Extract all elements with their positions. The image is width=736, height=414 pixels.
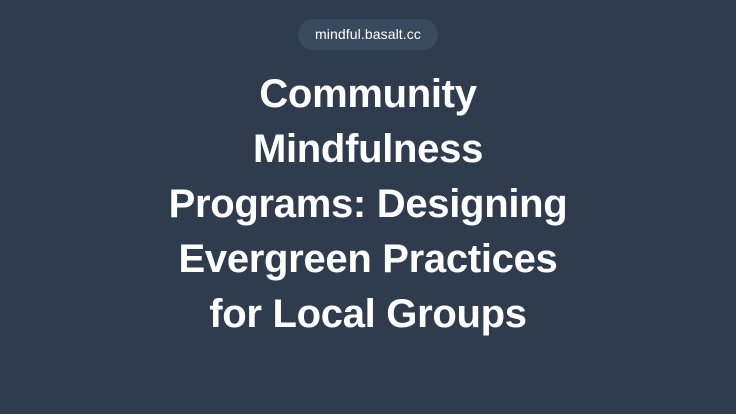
- page-title-line: Community: [133, 67, 603, 122]
- page-title-line: Mindfulness: [133, 122, 603, 177]
- site-domain-badge-label: mindful.basalt.cc: [315, 19, 421, 50]
- page-title-line: for Local Groups: [133, 287, 603, 342]
- page-title: Community Mindfulness Programs: Designin…: [133, 67, 603, 342]
- page-title-line: Programs: Designing: [133, 177, 603, 232]
- site-domain-badge: mindful.basalt.cc: [298, 19, 438, 50]
- page-title-line: Evergreen Practices: [133, 232, 603, 287]
- og-share-card: mindful.basalt.cc Community Mindfulness …: [0, 0, 736, 414]
- title-block: Community Mindfulness Programs: Designin…: [133, 67, 603, 342]
